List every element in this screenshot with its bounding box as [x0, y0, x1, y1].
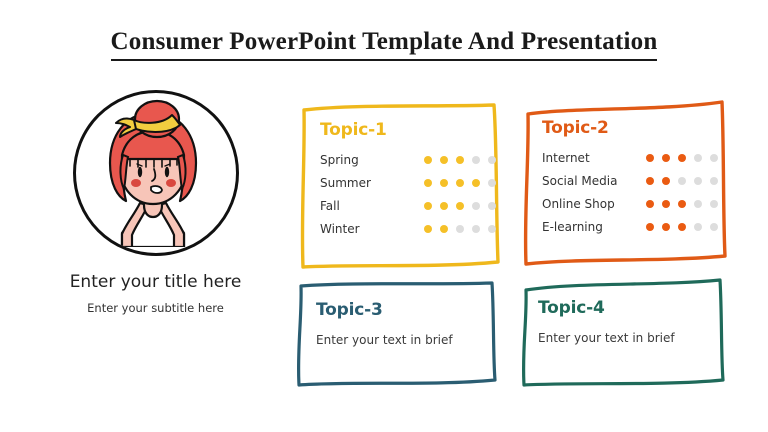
topic-card-2[interactable]: Topic-2 InternetSocial MediaOnline ShopE…: [518, 96, 730, 270]
rating-dots: [424, 179, 496, 187]
rating-dot-empty: [678, 177, 686, 185]
rating-row: Internet: [542, 146, 714, 169]
topic-card-4[interactable]: Topic-4 Enter your text in brief: [514, 276, 730, 388]
topic-card-1[interactable]: Topic-1 SpringSummerFallWinter: [296, 98, 504, 270]
rating-dot-empty: [488, 156, 496, 164]
rating-dot-filled: [646, 154, 654, 162]
topic-card-3-title: Topic-3: [316, 300, 488, 320]
rating-dot-empty: [472, 156, 480, 164]
rating-dot-empty: [710, 200, 718, 208]
rating-row-label: Online Shop: [542, 197, 646, 211]
topic-card-1-title: Topic-1: [320, 120, 488, 140]
topic-card-2-rows: InternetSocial MediaOnline ShopE-learnin…: [542, 146, 714, 238]
rating-dots: [424, 202, 496, 210]
rating-dot-empty: [710, 223, 718, 231]
rating-dot-filled: [456, 179, 464, 187]
avatar: [73, 90, 239, 256]
rating-dot-empty: [472, 202, 480, 210]
rating-dot-filled: [662, 154, 670, 162]
topic-card-1-rows: SpringSummerFallWinter: [320, 148, 488, 240]
rating-row: Winter: [320, 217, 488, 240]
rating-dot-empty: [710, 177, 718, 185]
rating-row-label: E-learning: [542, 220, 646, 234]
rating-dot-filled: [646, 223, 654, 231]
rating-dot-empty: [694, 223, 702, 231]
rating-dots: [646, 200, 718, 208]
rating-dot-empty: [488, 225, 496, 233]
rating-dot-filled: [662, 200, 670, 208]
topic-card-4-title: Topic-4: [538, 298, 714, 318]
rating-dot-filled: [662, 177, 670, 185]
page-title-text: Consumer PowerPoint Template And Present…: [111, 28, 658, 61]
rating-dot-filled: [440, 156, 448, 164]
topic-card-2-title: Topic-2: [542, 118, 714, 138]
rating-dot-filled: [646, 200, 654, 208]
topic-card-3-body: Enter your text in brief: [316, 333, 488, 347]
rating-dot-filled: [678, 223, 686, 231]
rating-dot-filled: [678, 154, 686, 162]
rating-dot-filled: [456, 202, 464, 210]
rating-dot-filled: [456, 156, 464, 164]
profile-title: Enter your title here: [53, 272, 258, 293]
rating-row: Online Shop: [542, 192, 714, 215]
rating-dot-filled: [662, 223, 670, 231]
rating-row: Summer: [320, 171, 488, 194]
topic-card-4-body: Enter your text in brief: [538, 331, 714, 345]
profile-panel: Enter your title here Enter your subtitl…: [53, 90, 258, 316]
rating-dots: [646, 154, 718, 162]
rating-dot-filled: [646, 177, 654, 185]
rating-row-label: Spring: [320, 153, 424, 167]
rating-dots: [424, 156, 496, 164]
rating-dot-empty: [472, 225, 480, 233]
rating-row-label: Social Media: [542, 174, 646, 188]
rating-dot-filled: [424, 179, 432, 187]
rating-dot-filled: [440, 179, 448, 187]
rating-dot-filled: [472, 179, 480, 187]
page-title: Consumer PowerPoint Template And Present…: [0, 28, 768, 61]
rating-dot-filled: [424, 202, 432, 210]
rating-row: Social Media: [542, 169, 714, 192]
rating-row-label: Internet: [542, 151, 646, 165]
topic-card-3[interactable]: Topic-3 Enter your text in brief: [292, 278, 504, 388]
rating-row: Fall: [320, 194, 488, 217]
profile-subtitle: Enter your subtitle here: [53, 301, 258, 316]
rating-dot-filled: [678, 200, 686, 208]
rating-dot-empty: [456, 225, 464, 233]
rating-dot-empty: [488, 179, 496, 187]
rating-dot-filled: [424, 225, 432, 233]
rating-row-label: Fall: [320, 199, 424, 213]
rating-dot-filled: [440, 202, 448, 210]
rating-dot-empty: [694, 200, 702, 208]
rating-dots: [646, 177, 718, 185]
rating-dots: [424, 225, 496, 233]
topic-card-grid: Topic-1 SpringSummerFallWinter Topic-2 I…: [292, 96, 736, 392]
rating-dot-empty: [694, 177, 702, 185]
rating-row: E-learning: [542, 215, 714, 238]
rating-dot-empty: [488, 202, 496, 210]
cartoon-girl-avatar-illustration: [76, 93, 230, 247]
rating-row-label: Summer: [320, 176, 424, 190]
rating-row: Spring: [320, 148, 488, 171]
rating-dot-filled: [424, 156, 432, 164]
rating-dot-empty: [710, 154, 718, 162]
rating-dots: [646, 223, 718, 231]
rating-dot-empty: [694, 154, 702, 162]
rating-dot-filled: [440, 225, 448, 233]
rating-row-label: Winter: [320, 222, 424, 236]
